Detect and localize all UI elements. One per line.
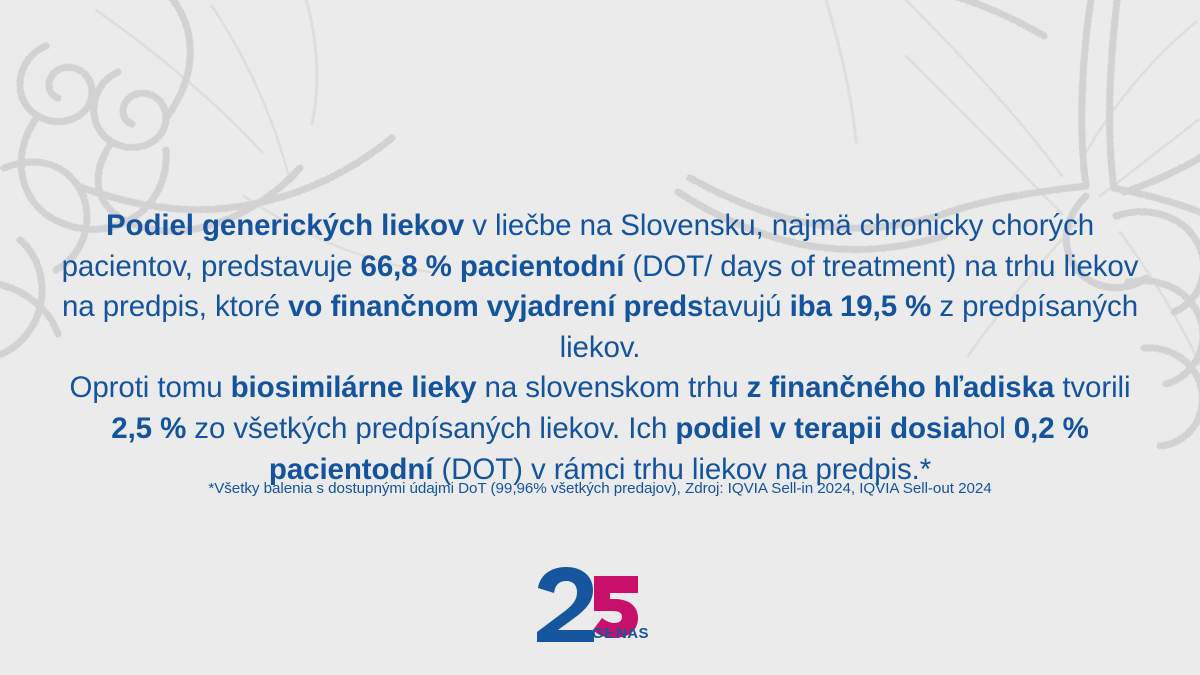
statement-emphasis: 66,8 % pacientodní: [361, 250, 625, 283]
statement-paragraph-1: Podiel generických liekov v liečbe na Sl…: [58, 206, 1142, 368]
statement-emphasis: biosimilárne lieky: [231, 371, 477, 404]
svg-text:GE: GE: [592, 625, 614, 642]
statement-emphasis: Podiel generických liekov: [106, 209, 464, 242]
statement-emphasis: vo finančnom vyjadrení preds: [288, 290, 703, 323]
statement-run: hol: [967, 412, 1014, 445]
svg-text:NAS: NAS: [616, 625, 649, 642]
statement-run: na slovenskom trhu: [476, 371, 746, 404]
statement-run: tavujú: [703, 290, 789, 323]
slide-canvas: Podiel generických liekov v liečbe na Sl…: [0, 0, 1200, 675]
statement-run: zo všetkých predpísaných liekov. Ich: [186, 412, 675, 445]
statement-run: Oproti tomu: [70, 371, 231, 404]
statement-emphasis: iba 19,5 %: [790, 290, 932, 323]
logo-wordmark: GE NAS: [592, 625, 649, 642]
footnote-source: *Všetky balenia s dostupnými údajmi DoT …: [0, 478, 1200, 500]
statement-text: Podiel generických liekov v liečbe na Sl…: [0, 206, 1200, 490]
logo-separator-dash: [610, 628, 616, 631]
statement-run: tvorili: [1054, 371, 1130, 404]
statement-emphasis: podiel v terapii dosia: [675, 412, 966, 445]
logo-digit-two: [537, 567, 594, 642]
genas-logo: GE NAS: [532, 566, 668, 642]
statement-paragraph-2: Oproti tomu biosimilárne lieky na sloven…: [58, 368, 1142, 490]
statement-emphasis: z finančného hľadiska: [747, 371, 1055, 404]
statement-emphasis: 2,5 %: [111, 412, 186, 445]
